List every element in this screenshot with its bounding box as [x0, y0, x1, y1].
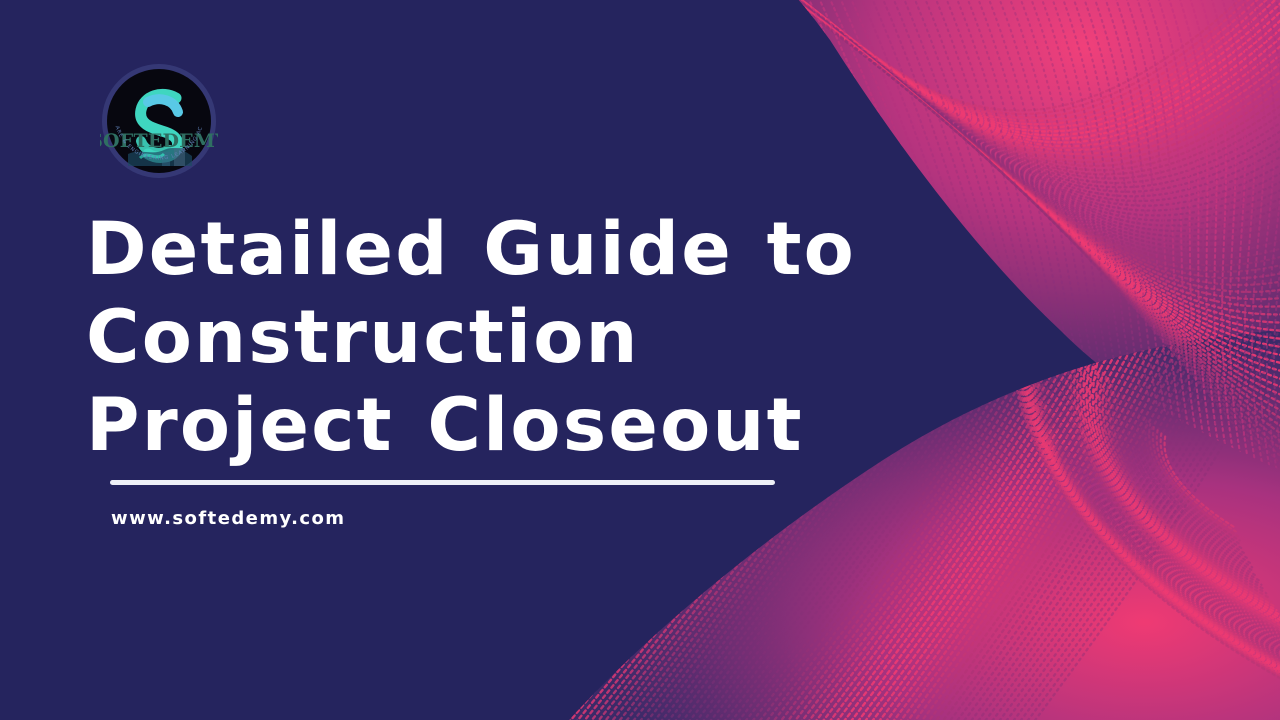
- hero-title-line-2: Construction: [86, 294, 916, 382]
- hero-title-line-1: Detailed Guide to: [86, 206, 916, 294]
- site-url[interactable]: www.softedemy.com: [111, 508, 346, 529]
- brand-logo[interactable]: SOFTEDEMY SOFTWARE & ENGINEERING LEARNIN…: [100, 62, 218, 180]
- title-divider: [110, 480, 775, 485]
- hero-title: Detailed Guide to Construction Project C…: [86, 206, 916, 470]
- banner-canvas: SOFTEDEMY SOFTWARE & ENGINEERING LEARNIN…: [0, 0, 1280, 720]
- hero-title-line-3: Project Closeout: [86, 382, 916, 470]
